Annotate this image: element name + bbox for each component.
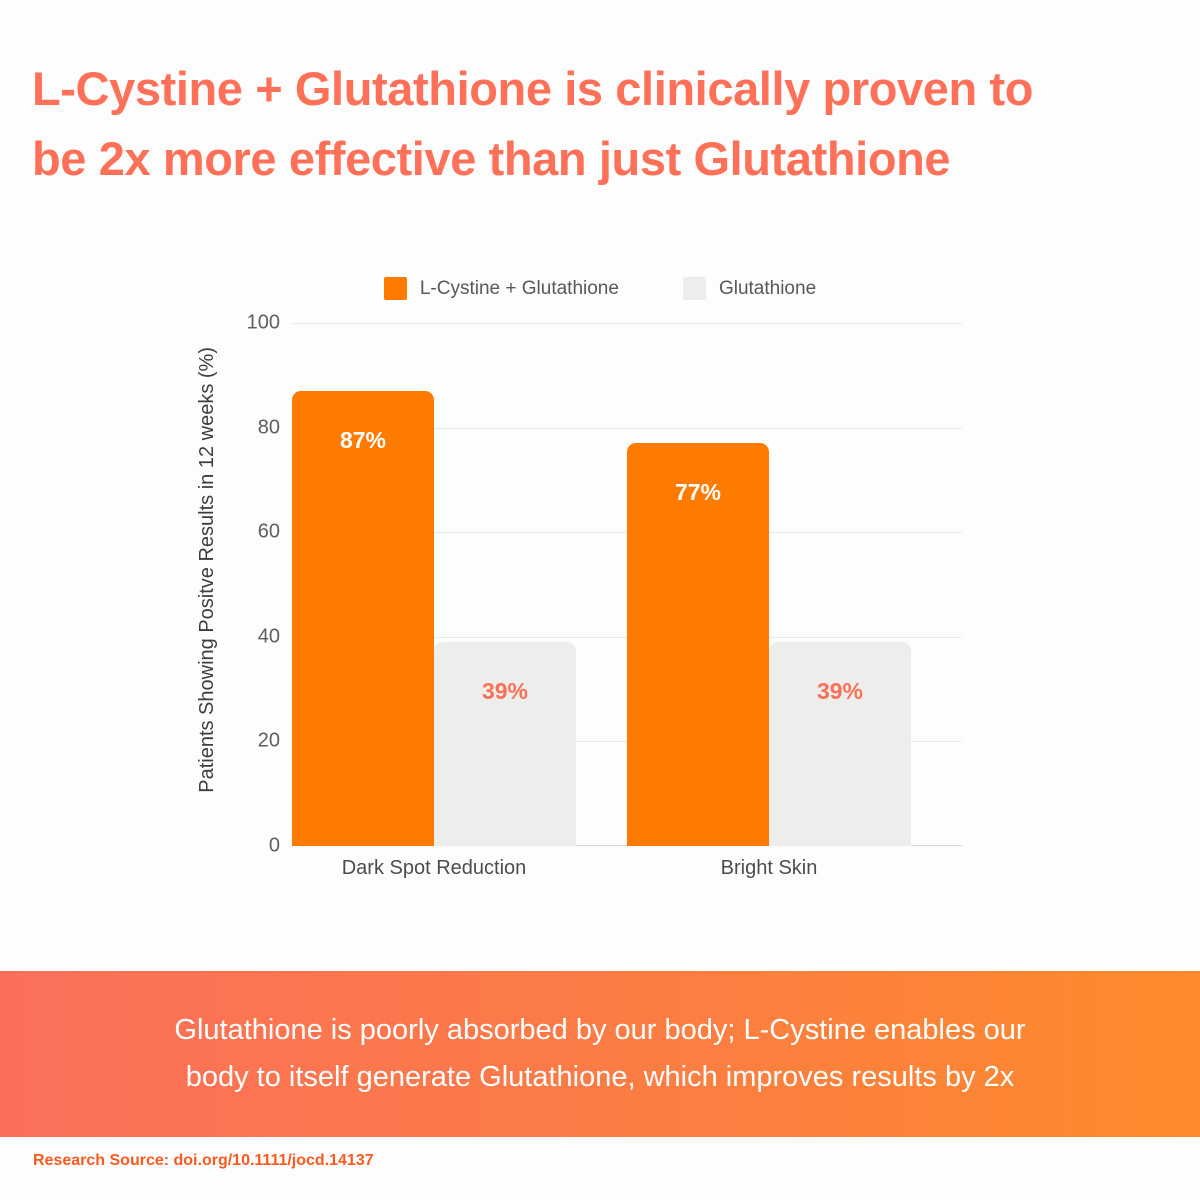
explainer-banner-text: Glutathione is poorly absorbed by our bo… [95, 1007, 1105, 1101]
explainer-banner: Glutathione is poorly absorbed by our bo… [0, 971, 1200, 1137]
bar-value-label: 39% [434, 678, 576, 705]
y-axis-tick-label: 100 [200, 312, 280, 335]
y-axis-tick-label: 40 [200, 625, 280, 648]
legend-label: L-Cystine + Glutathione [420, 278, 619, 300]
gridline [292, 323, 962, 324]
x-axis-category-label: Bright Skin [721, 857, 818, 880]
plot-area: 02040608010087%39%Dark Spot Reduction77%… [292, 323, 962, 846]
explainer-banner-line-2: body to itself generate Glutathione, whi… [95, 1054, 1105, 1101]
legend-label: Glutathione [719, 278, 816, 300]
page-title-line-2: be 2x more effective than just Glutathio… [32, 124, 1172, 194]
bar[interactable]: 87% [292, 391, 434, 846]
chart-legend: L-Cystine + Glutathione Glutathione [0, 277, 1200, 300]
y-axis-tick-label: 80 [200, 416, 280, 439]
y-axis-title: Patients Showing Positve Results in 12 w… [196, 347, 219, 793]
x-axis-category-label: Dark Spot Reduction [342, 857, 527, 880]
explainer-banner-line-1: Glutathione is poorly absorbed by our bo… [95, 1007, 1105, 1054]
y-axis-tick-label: 60 [200, 521, 280, 544]
bar-value-label: 77% [627, 479, 769, 506]
y-axis-tick-label: 20 [200, 730, 280, 753]
bar[interactable]: 77% [627, 443, 769, 846]
legend-item-glutathione[interactable]: Glutathione [683, 277, 816, 300]
legend-swatch-icon [384, 277, 407, 300]
legend-item-l-cystine-glutathione[interactable]: L-Cystine + Glutathione [384, 277, 619, 300]
bar[interactable]: 39% [769, 642, 911, 846]
bar-value-label: 87% [292, 427, 434, 454]
bar-value-label: 39% [769, 678, 911, 705]
legend-swatch-icon [683, 277, 706, 300]
y-axis-tick-label: 0 [200, 835, 280, 858]
page-title: L-Cystine + Glutathione is clinically pr… [32, 54, 1172, 193]
bar[interactable]: 39% [434, 642, 576, 846]
bar-chart: L-Cystine + Glutathione Glutathione Pati… [0, 255, 1200, 905]
research-source: Research Source: doi.org/10.1111/jocd.14… [33, 1152, 374, 1170]
page-title-line-1: L-Cystine + Glutathione is clinically pr… [32, 54, 1172, 124]
